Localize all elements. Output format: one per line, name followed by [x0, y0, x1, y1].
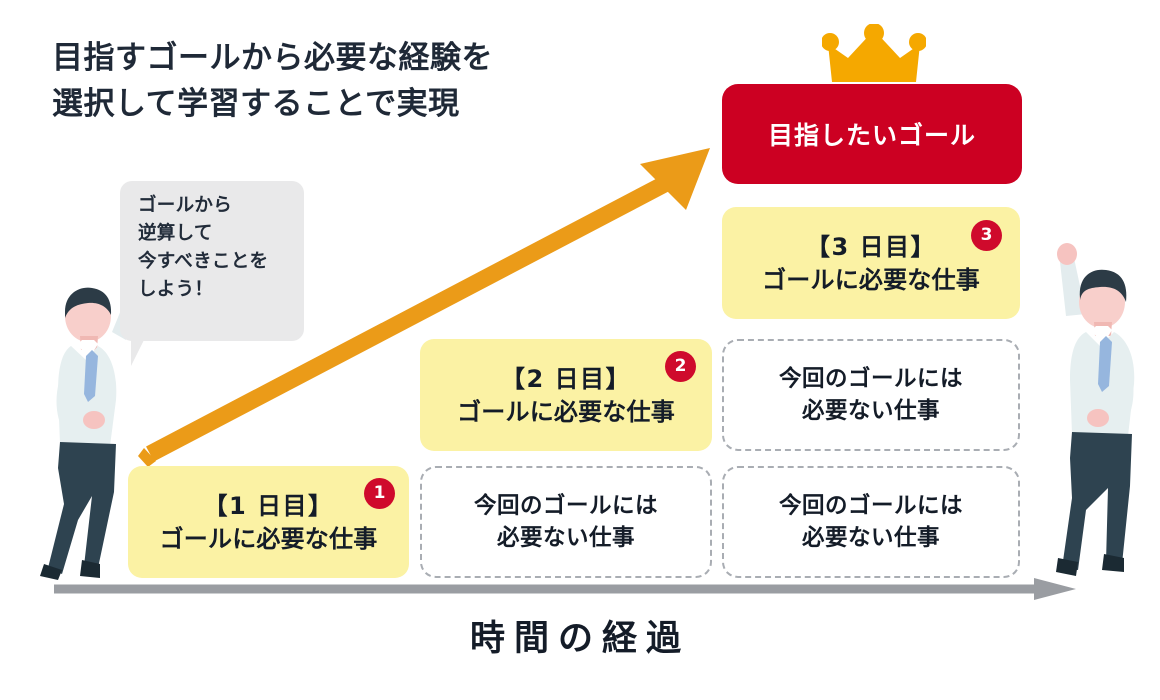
- unneeded-line1: 今回のゴールには: [474, 492, 658, 520]
- task-box-day2-title: 【2 日目】: [501, 364, 631, 394]
- diagram-canvas: 目指すゴールから必要な経験を 選択して学習することで実現: [0, 0, 1160, 700]
- page-title: 目指すゴールから必要な経験を 選択して学習することで実現: [52, 36, 493, 127]
- badge-1: 1: [364, 478, 395, 509]
- task-box-col3-row2-unneeded[interactable]: 今回のゴールには 必要ない仕事: [722, 339, 1020, 451]
- task-box-col3-row3-unneeded[interactable]: 今回のゴールには 必要ない仕事: [722, 466, 1020, 578]
- goal-box[interactable]: 目指したいゴール: [722, 84, 1022, 184]
- unneeded-line1: 今回のゴールには: [779, 492, 963, 520]
- badge-2: 2: [665, 351, 696, 382]
- task-box-day3-needed[interactable]: 【3 日目】 ゴールに必要な仕事 3: [722, 207, 1020, 319]
- task-box-day2-needed[interactable]: 【2 日目】 ゴールに必要な仕事 2: [420, 339, 712, 451]
- task-box-day3-desc: ゴールに必要な仕事: [762, 265, 980, 295]
- time-axis-arrow: [50, 576, 1080, 602]
- time-axis-label: 時間の経過: [0, 610, 1160, 661]
- task-box-col2-row3-unneeded[interactable]: 今回のゴールには 必要ない仕事: [420, 466, 712, 578]
- task-box-day1-needed[interactable]: 【1 日目】 ゴールに必要な仕事 1: [128, 466, 409, 578]
- businessman-right-illustration: [1030, 240, 1150, 582]
- task-box-day2-desc: ゴールに必要な仕事: [457, 397, 675, 427]
- crown-icon: [822, 24, 926, 86]
- task-box-day3-title: 【3 日目】: [806, 232, 936, 262]
- goal-label: 目指したいゴール: [768, 116, 976, 152]
- unneeded-line2: 必要ない仕事: [802, 524, 940, 552]
- unneeded-line2: 必要ない仕事: [802, 397, 940, 425]
- task-box-day1-title: 【1 日目】: [203, 491, 333, 521]
- unneeded-line1: 今回のゴールには: [779, 365, 963, 393]
- task-box-day1-desc: ゴールに必要な仕事: [160, 524, 378, 554]
- unneeded-line2: 必要ない仕事: [497, 524, 635, 552]
- badge-3: 3: [971, 220, 1002, 251]
